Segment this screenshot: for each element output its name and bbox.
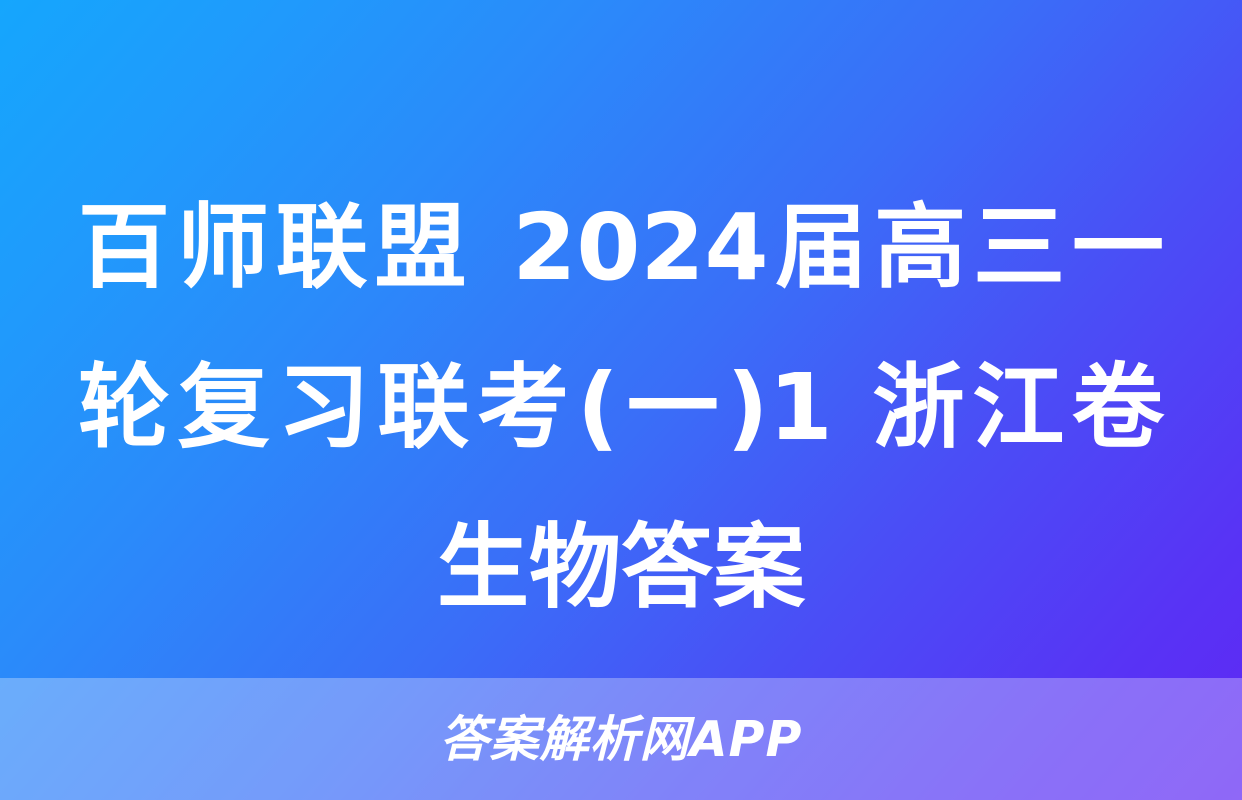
title-line-1: 百师联盟 2024届高三一 (78, 168, 1164, 328)
title-block: 百师联盟 2024届高三一 轮复习联考(一)1 浙江卷 生物答案 (0, 168, 1242, 648)
brand-band: 答案解析网APP (0, 678, 1242, 800)
brand-watermark-label: 答案解析网APP (440, 715, 803, 764)
title-line-3: 生物答案 (78, 488, 1164, 648)
title-line-2: 轮复习联考(一)1 浙江卷 (78, 328, 1164, 488)
cover-image: 百师联盟 2024届高三一 轮复习联考(一)1 浙江卷 生物答案 答案解析网AP… (0, 0, 1242, 800)
